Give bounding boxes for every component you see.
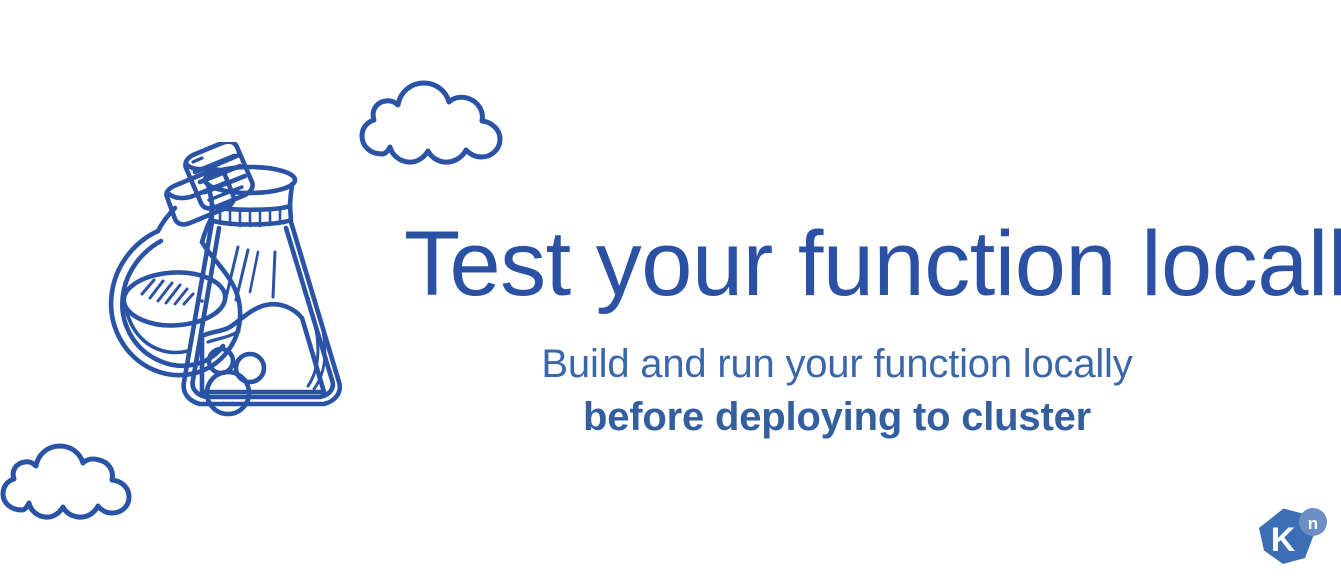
logo-letter-k: K xyxy=(1271,521,1296,559)
cloud-icon xyxy=(352,58,512,170)
slide-canvas: Test your function locally Build and run… xyxy=(0,0,1341,585)
logo-letter-n: n xyxy=(1308,514,1318,533)
cloud-icon xyxy=(0,424,154,524)
subtitle-line-1: Build and run your function locally xyxy=(404,338,1270,391)
subtitle-block: Build and run your function locally befo… xyxy=(404,338,1270,444)
page-title: Test your function locally xyxy=(404,218,1270,312)
subtitle-line-2: before deploying to cluster xyxy=(404,391,1270,444)
kn-logo: K n xyxy=(1253,505,1329,577)
laboratory-flasks-illustration xyxy=(62,142,392,432)
headline-block: Test your function locally Build and run… xyxy=(404,218,1270,443)
